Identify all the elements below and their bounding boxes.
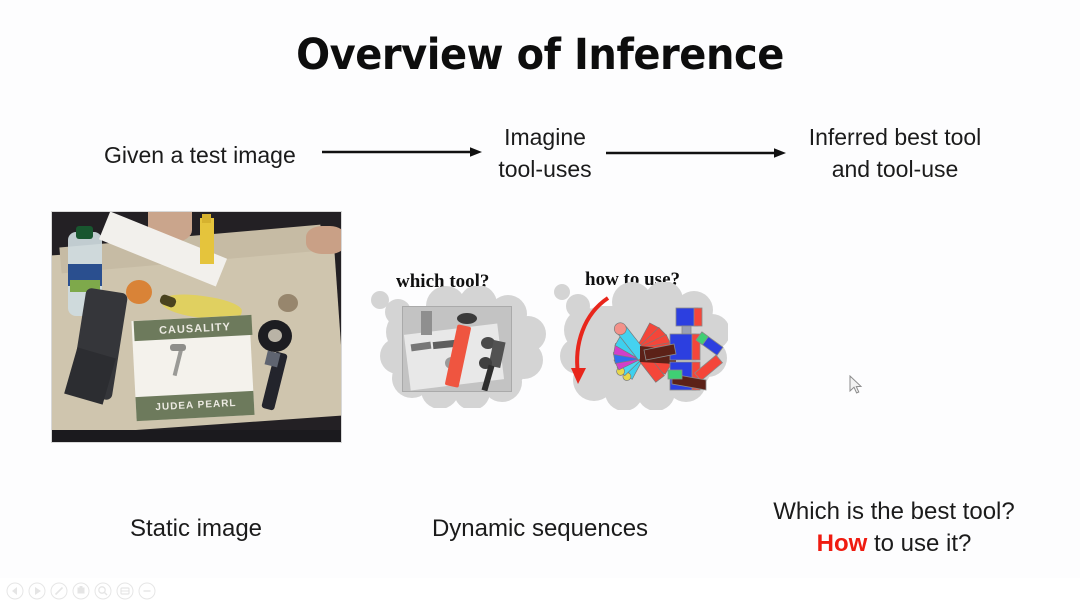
pen-icon[interactable] xyxy=(50,582,68,600)
caption-question-line-2: How to use it? xyxy=(736,528,1052,560)
slides-icon[interactable] xyxy=(116,582,134,600)
presentation-toolbar[interactable] xyxy=(0,578,1080,604)
caption-how-highlight: How xyxy=(817,530,868,557)
mouse-cursor xyxy=(849,375,863,395)
flow-arrow-2-icon xyxy=(606,146,786,160)
flow-arrow-1-icon xyxy=(322,145,482,159)
caption-how-rest: to use it? xyxy=(867,530,971,557)
flow-step-inferred-best-tool: Inferred best tool and tool-use xyxy=(780,122,1010,185)
imagined-tool-use-sequence-image xyxy=(558,288,726,408)
magnifier-icon[interactable] xyxy=(94,582,112,600)
imagined-tool-selection-image xyxy=(402,306,512,392)
caption-static-image: Static image xyxy=(76,513,316,545)
minus-icon[interactable] xyxy=(138,582,156,600)
screen-icon[interactable] xyxy=(72,582,90,600)
caption-dynamic-sequences: Dynamic sequences xyxy=(418,513,662,545)
play-icon[interactable] xyxy=(28,582,46,600)
back-icon[interactable] xyxy=(6,582,24,600)
caption-question-line-1: Which is the best tool? xyxy=(736,496,1052,528)
page-title: Overview of Inference xyxy=(38,30,1042,80)
flow-step-given-test-image: Given a test image xyxy=(104,140,296,172)
flow-step-imagine-tool-uses: Imagine tool-uses xyxy=(480,122,610,185)
presentation-slide: Overview of Inference Given a test image… xyxy=(0,0,1080,604)
caption-question-block: Which is the best tool? How to use it? xyxy=(736,496,1052,561)
static-image-photo: CAUSALITY JUDEA PEARL xyxy=(51,211,342,443)
